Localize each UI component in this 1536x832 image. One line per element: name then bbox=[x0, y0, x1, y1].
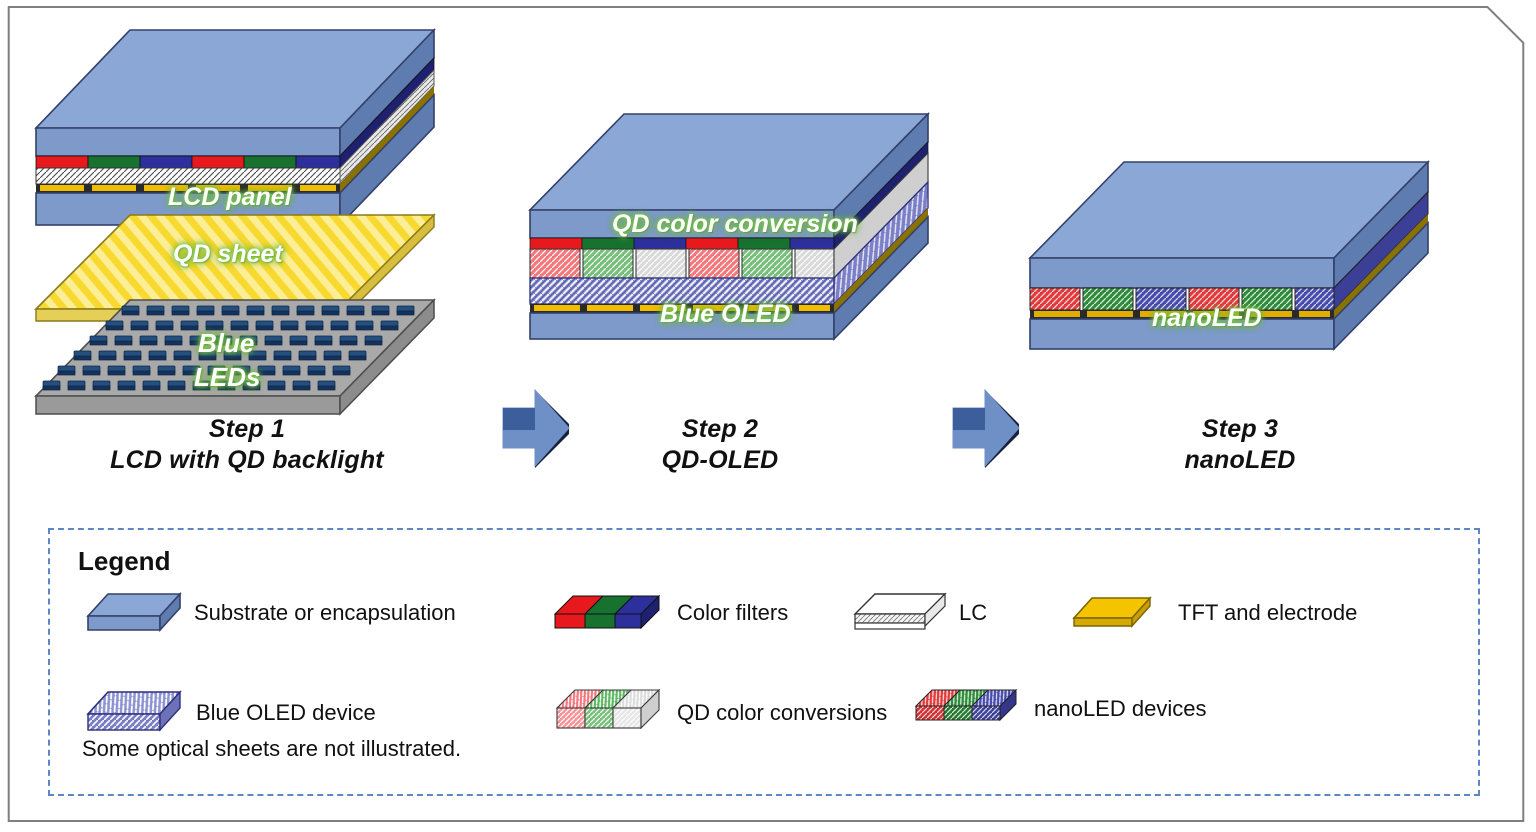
legend-title: Legend bbox=[78, 546, 170, 577]
legend-label-lc: LC bbox=[959, 600, 987, 626]
tft-electrode-swatch-icon bbox=[1072, 596, 1156, 636]
step3-caption: nanoLED bbox=[1080, 445, 1400, 476]
panel-step3: nanoLED bbox=[1028, 160, 1498, 360]
legend-label-color-filters: Color filters bbox=[677, 600, 788, 626]
legend-item-tft: TFT and electrode bbox=[1072, 596, 1156, 636]
step1-caption-block: Step 1 LCD with QD backlight bbox=[22, 414, 472, 477]
legend-label-qd-color-conversion: QD color conversions bbox=[677, 700, 887, 726]
color-filters-swatch-icon bbox=[555, 594, 663, 636]
legend-label-blue-oled: Blue OLED device bbox=[196, 700, 376, 726]
panel-step1: LCD panel QD sheet bbox=[34, 28, 464, 408]
step2-caption: QD-OLED bbox=[560, 445, 880, 476]
panel-step2: QD color conversion Blue OLED bbox=[528, 112, 998, 342]
step1-step-label: Step 1 bbox=[22, 414, 472, 445]
lc-swatch-icon bbox=[853, 592, 949, 636]
legend-item-blue-oled: Blue OLED device bbox=[86, 690, 188, 738]
arrow-step2-to-step3 bbox=[945, 388, 1025, 480]
step1-lcd-panel-stack bbox=[34, 28, 464, 238]
step3-step-label: Step 3 bbox=[1080, 414, 1400, 445]
step2-qd-oled-stack bbox=[528, 112, 998, 342]
legend-note: Some optical sheets are not illustrated. bbox=[82, 736, 461, 762]
legend-label-substrate: Substrate or encapsulation bbox=[194, 600, 456, 626]
step3-nanoled-stack bbox=[1028, 160, 1498, 360]
legend-item-substrate: Substrate or encapsulation bbox=[86, 592, 184, 636]
step2-caption-block: Step 2 QD-OLED bbox=[560, 414, 880, 477]
qd-color-conversion-swatch-icon bbox=[555, 688, 667, 738]
legend-item-qd-color-conversion: QD color conversions bbox=[555, 688, 667, 738]
legend-label-nanoled: nanoLED devices bbox=[1034, 696, 1206, 722]
step2-step-label: Step 2 bbox=[560, 414, 880, 445]
legend-label-tft: TFT and electrode bbox=[1178, 600, 1357, 626]
nanoled-devices-swatch-icon bbox=[912, 688, 1024, 736]
legend-item-lc: LC bbox=[853, 592, 949, 636]
legend-item-nanoled: nanoLED devices bbox=[912, 688, 1024, 736]
substrate-swatch-icon bbox=[86, 592, 184, 636]
step3-caption-block: Step 3 nanoLED bbox=[1080, 414, 1400, 477]
legend-item-color-filters: Color filters bbox=[555, 594, 663, 636]
legend-box: Legend Substrate or encapsulation Color … bbox=[48, 528, 1480, 796]
step1-caption: LCD with QD backlight bbox=[22, 445, 472, 476]
arrow-step1-to-step2 bbox=[495, 388, 575, 480]
blue-oled-device-swatch-icon bbox=[86, 690, 188, 738]
